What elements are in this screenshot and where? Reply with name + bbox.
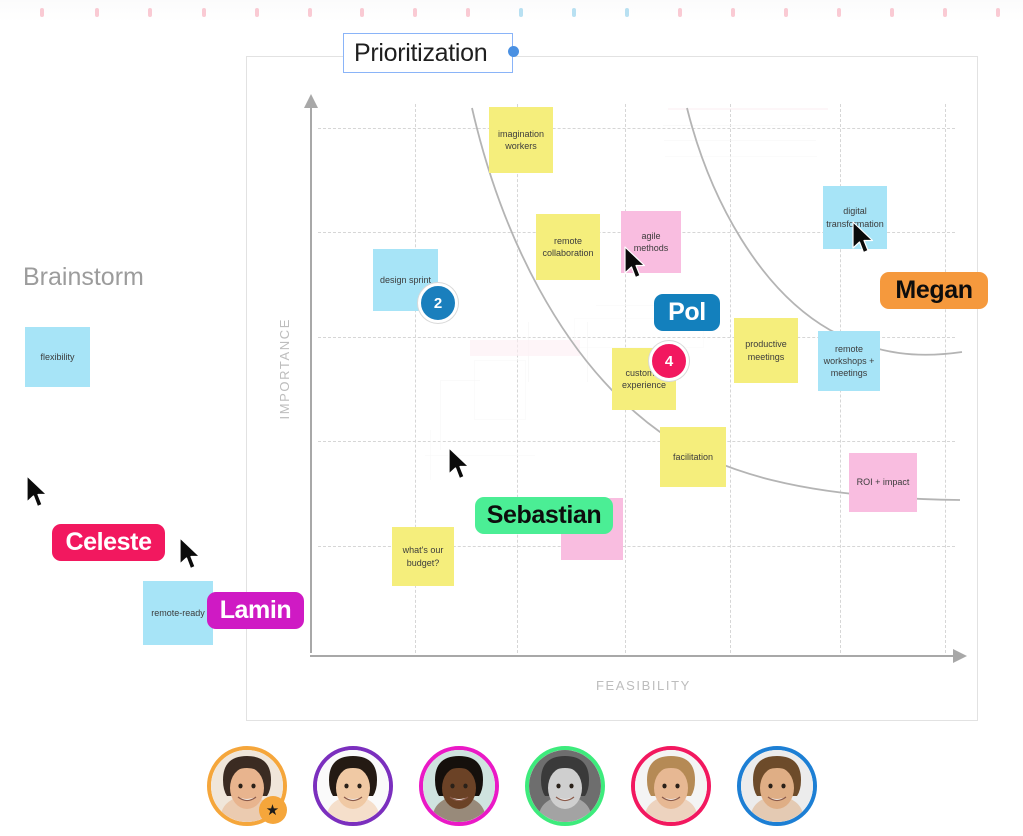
top-dot-strip <box>0 0 1023 22</box>
cursor-label-text: Sebastian <box>487 501 602 530</box>
ghost-shape-2 <box>663 125 813 126</box>
avatar-p5[interactable] <box>631 746 711 826</box>
top-dot-18 <box>996 8 1000 17</box>
whiteboard-canvas: IMPORTANCE FEASIBILITY Brainstorm flexib… <box>0 0 1023 836</box>
ghost-rect-12 <box>430 430 431 480</box>
vote-badge-count: 2 <box>434 295 442 312</box>
sticky-note-text: what's our budget? <box>395 544 451 568</box>
sticky-note-text: design sprint <box>380 274 431 286</box>
cursor-label-text: Celeste <box>65 528 151 557</box>
frame-title-text: Prioritization <box>354 39 487 68</box>
top-dot-8 <box>466 8 470 17</box>
top-dot-14 <box>784 8 788 17</box>
grid-vline-5 <box>945 104 946 653</box>
top-dot-6 <box>360 8 364 17</box>
grid-hline-3 <box>318 441 955 442</box>
avatar-p3[interactable] <box>419 746 499 826</box>
avatar-photo <box>741 750 813 822</box>
avatar-p6[interactable] <box>737 746 817 826</box>
avatar-photo <box>529 750 601 822</box>
sticky-note-facilitation[interactable]: facilitation <box>660 427 726 487</box>
top-dot-16 <box>890 8 894 17</box>
y-axis-label: IMPORTANCE <box>277 318 292 419</box>
sticky-note-text: ROI + impact <box>857 476 910 488</box>
sticky-note-text: remote-ready <box>151 607 205 619</box>
top-dot-13 <box>731 8 735 17</box>
y-axis-line <box>310 108 312 653</box>
top-dot-10 <box>572 8 576 17</box>
top-dot-17 <box>943 8 947 17</box>
top-dot-11 <box>625 8 629 17</box>
sticky-note-imagination[interactable]: imagination workers <box>489 107 553 173</box>
top-dot-1 <box>95 8 99 17</box>
ghost-shape-3 <box>664 140 816 141</box>
sticky-note-text: imagination workers <box>492 128 550 152</box>
cursor-label-megan: Megan <box>880 272 988 309</box>
sticky-note-text: remote collaboration <box>539 235 597 259</box>
top-dot-7 <box>413 8 417 17</box>
vote-badge-count: 4 <box>665 353 673 370</box>
cursor-label-pol: Pol <box>654 294 720 331</box>
ghost-rect-11 <box>425 455 535 456</box>
sticky-note-whats-our-budget[interactable]: what's our budget? <box>392 527 454 586</box>
ghost-rect-9 <box>474 360 526 420</box>
ghost-shape-1 <box>668 108 828 110</box>
cursor-label-text: Megan <box>895 276 972 305</box>
resize-handle-dot-icon[interactable] <box>508 46 519 57</box>
top-dot-2 <box>148 8 152 17</box>
sticky-note-text: remote workshops + meetings <box>821 343 877 379</box>
top-dot-3 <box>202 8 206 17</box>
sticky-note-productive-meet[interactable]: productive meetings <box>734 318 798 383</box>
sticky-note-remote-ready[interactable]: remote-ready <box>143 581 213 645</box>
top-dot-5 <box>308 8 312 17</box>
ghost-rect-8 <box>470 340 580 356</box>
pointer-cursor-icon-cursor-lamin <box>178 537 204 571</box>
frame-title-textbox[interactable]: Prioritization <box>343 33 513 73</box>
star-icon: ★ <box>259 796 287 824</box>
sticky-note-flexibility[interactable]: flexibility <box>25 327 90 387</box>
grid-hline-0 <box>318 128 955 129</box>
cursor-label-text: Lamin <box>220 596 292 625</box>
cursor-label-lamin: Lamin <box>207 592 304 629</box>
cursor-label-sebastian: Sebastian <box>475 497 613 534</box>
pointer-cursor-icon-cursor-mid <box>447 447 473 481</box>
sticky-note-text: flexibility <box>40 351 74 363</box>
avatar-p1[interactable]: ★ <box>207 746 287 826</box>
cursor-label-celeste: Celeste <box>52 524 165 561</box>
top-dot-12 <box>678 8 682 17</box>
top-dot-15 <box>837 8 841 17</box>
avatar-photo <box>317 750 389 822</box>
cursor-label-text: Pol <box>668 298 706 327</box>
grid-vline-3 <box>730 104 731 653</box>
x-axis-line <box>310 655 955 657</box>
ghost-rect-10 <box>440 380 480 450</box>
top-dot-4 <box>255 8 259 17</box>
sticky-note-roi-impact[interactable]: ROI + impact <box>849 453 917 512</box>
avatar-p4[interactable] <box>525 746 605 826</box>
vote-badge-badge-2[interactable]: 2 <box>418 283 458 323</box>
top-dot-0 <box>40 8 44 17</box>
sticky-note-remote-collab[interactable]: remote collaboration <box>536 214 600 280</box>
vote-badge-badge-4[interactable]: 4 <box>649 341 689 381</box>
pointer-cursor-icon-cursor-agile <box>623 246 649 280</box>
sticky-note-remote-workshops[interactable]: remote workshops + meetings <box>818 331 880 391</box>
pointer-cursor-icon-cursor-celeste <box>25 475 51 509</box>
sticky-note-text: productive meetings <box>737 338 795 362</box>
x-axis-label: FEASIBILITY <box>596 678 691 693</box>
pointer-cursor-icon-cursor-digital <box>851 221 877 255</box>
avatar-p2[interactable] <box>313 746 393 826</box>
top-dot-9 <box>519 8 523 17</box>
y-axis-arrowhead-icon <box>304 94 318 108</box>
brainstorm-section-label: Brainstorm <box>23 263 144 292</box>
x-axis-arrowhead-icon <box>953 649 967 663</box>
participant-avatar-bar: ★ <box>0 736 1023 836</box>
sticky-note-text: facilitation <box>673 451 713 463</box>
avatar-photo <box>423 750 495 822</box>
ghost-shape-4 <box>665 156 817 157</box>
avatar-photo <box>635 750 707 822</box>
